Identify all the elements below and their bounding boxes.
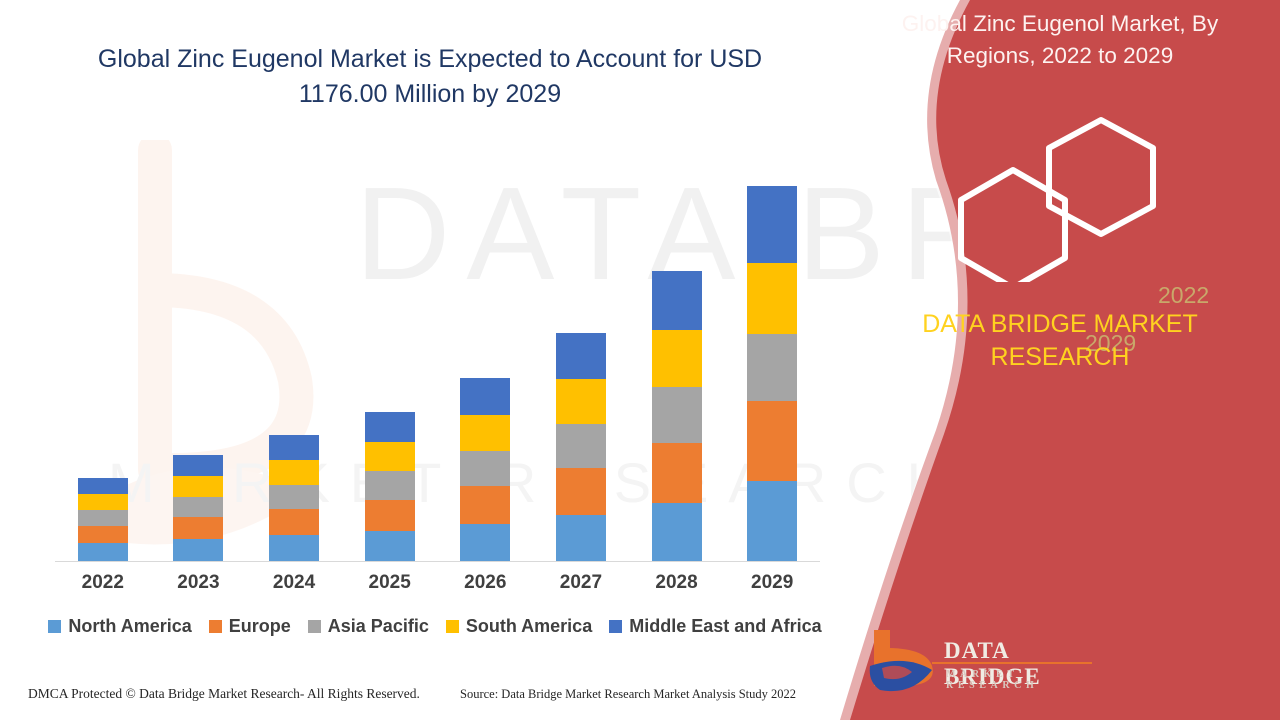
- bar-column: [151, 150, 247, 561]
- bar-column: [55, 150, 151, 561]
- x-axis-tick-label: 2024: [246, 572, 342, 594]
- bar-column: [724, 150, 820, 561]
- legend-label: Middle East and Africa: [629, 616, 821, 637]
- legend-swatch-icon: [209, 620, 222, 633]
- bar-segment: [747, 263, 797, 334]
- bar-segment: [78, 478, 128, 494]
- bar-segment: [173, 455, 223, 476]
- bar-segment: [365, 531, 415, 561]
- bar-segment: [365, 442, 415, 471]
- bar-segment: [78, 543, 128, 561]
- panel-content: Global Zinc Eugenol Market, By Regions, …: [840, 0, 1280, 720]
- hexagon-badges: 2022 2029: [945, 112, 1175, 282]
- logo-text-secondary: MARKET RESEARCH: [946, 669, 1100, 691]
- bar-segment: [652, 387, 702, 443]
- bar-stack: [460, 378, 510, 561]
- x-axis-tick-label: 2028: [629, 572, 725, 594]
- bar-column: [533, 150, 629, 561]
- legend-swatch-icon: [446, 620, 459, 633]
- bar-segment: [652, 443, 702, 503]
- bar-stack: [173, 455, 223, 561]
- bar-segment: [173, 476, 223, 497]
- bar-segment: [460, 486, 510, 524]
- bar-segment: [365, 500, 415, 531]
- legend-swatch-icon: [609, 620, 622, 633]
- bar-group: [55, 150, 820, 561]
- hexagon-label-start: 2022: [1158, 282, 1209, 309]
- legend-swatch-icon: [48, 620, 61, 633]
- bar-segment: [365, 412, 415, 442]
- x-axis-line: [55, 561, 820, 562]
- bar-segment: [365, 471, 415, 500]
- bar-segment: [747, 186, 797, 263]
- x-axis-tick-label: 2023: [151, 572, 247, 594]
- chart-title: Global Zinc Eugenol Market is Expected t…: [60, 42, 800, 111]
- brand-name: DATA BRIDGE MARKET RESEARCH: [880, 308, 1240, 374]
- bar-segment: [269, 509, 319, 535]
- panel-title: Global Zinc Eugenol Market, By Regions, …: [860, 8, 1260, 72]
- legend-item[interactable]: Middle East and Africa: [609, 616, 821, 637]
- bar-stack: [652, 271, 702, 561]
- x-axis-tick-label: 2026: [438, 572, 534, 594]
- legend-item[interactable]: South America: [446, 616, 592, 637]
- chart-legend: North AmericaEuropeAsia PacificSouth Ame…: [40, 616, 830, 637]
- bar-segment: [556, 515, 606, 561]
- x-axis-tick-label: 2029: [724, 572, 820, 594]
- bar-stack: [556, 333, 606, 561]
- legend-label: South America: [466, 616, 592, 637]
- bar-segment: [556, 379, 606, 424]
- bar-segment: [556, 468, 606, 515]
- bar-segment: [652, 503, 702, 561]
- bar-segment: [460, 378, 510, 415]
- bar-segment: [269, 535, 319, 561]
- footer-dmca-notice: DMCA Protected © Data Bridge Market Rese…: [28, 686, 420, 702]
- bar-segment: [78, 494, 128, 510]
- x-axis-tick-label: 2027: [533, 572, 629, 594]
- legend-swatch-icon: [308, 620, 321, 633]
- bar-segment: [747, 334, 797, 401]
- legend-label: Europe: [229, 616, 291, 637]
- x-axis-labels: 20222023202420252026202720282029: [55, 572, 820, 594]
- bar-segment: [747, 481, 797, 561]
- bar-segment: [747, 401, 797, 481]
- bar-column: [438, 150, 534, 561]
- bar-segment: [460, 451, 510, 486]
- x-axis-tick-label: 2022: [55, 572, 151, 594]
- bar-column: [342, 150, 438, 561]
- bar-stack: [269, 435, 319, 561]
- bar-segment: [460, 524, 510, 561]
- bar-segment: [78, 510, 128, 526]
- bar-segment: [652, 271, 702, 330]
- bar-segment: [269, 485, 319, 509]
- infographic-root: DATA BRIDGE MARKET RESEARCH Global Zinc …: [0, 0, 1280, 720]
- legend-item[interactable]: Asia Pacific: [308, 616, 429, 637]
- bar-stack: [365, 412, 415, 561]
- legend-item[interactable]: North America: [48, 616, 191, 637]
- bar-segment: [269, 460, 319, 485]
- brand-panel: Global Zinc Eugenol Market, By Regions, …: [840, 0, 1280, 720]
- bar-column: [246, 150, 342, 561]
- bar-stack: [78, 478, 128, 561]
- bar-column: [629, 150, 725, 561]
- bar-segment: [460, 415, 510, 451]
- bar-stack: [747, 186, 797, 561]
- chart-plot-area: [55, 150, 820, 562]
- bar-segment: [269, 435, 319, 460]
- legend-label: Asia Pacific: [328, 616, 429, 637]
- bar-segment: [652, 330, 702, 387]
- bar-segment: [173, 539, 223, 561]
- bar-segment: [556, 424, 606, 468]
- footer-source-note: Source: Data Bridge Market Research Mark…: [460, 687, 796, 702]
- company-logo: DATA BRIDGE MARKET RESEARCH: [860, 626, 1100, 702]
- legend-item[interactable]: Europe: [209, 616, 291, 637]
- bar-segment: [173, 517, 223, 539]
- x-axis-tick-label: 2025: [342, 572, 438, 594]
- bar-segment: [173, 497, 223, 517]
- bar-segment: [556, 333, 606, 379]
- hexagon-outline-icon: [945, 112, 1175, 282]
- bar-segment: [78, 526, 128, 543]
- legend-label: North America: [68, 616, 191, 637]
